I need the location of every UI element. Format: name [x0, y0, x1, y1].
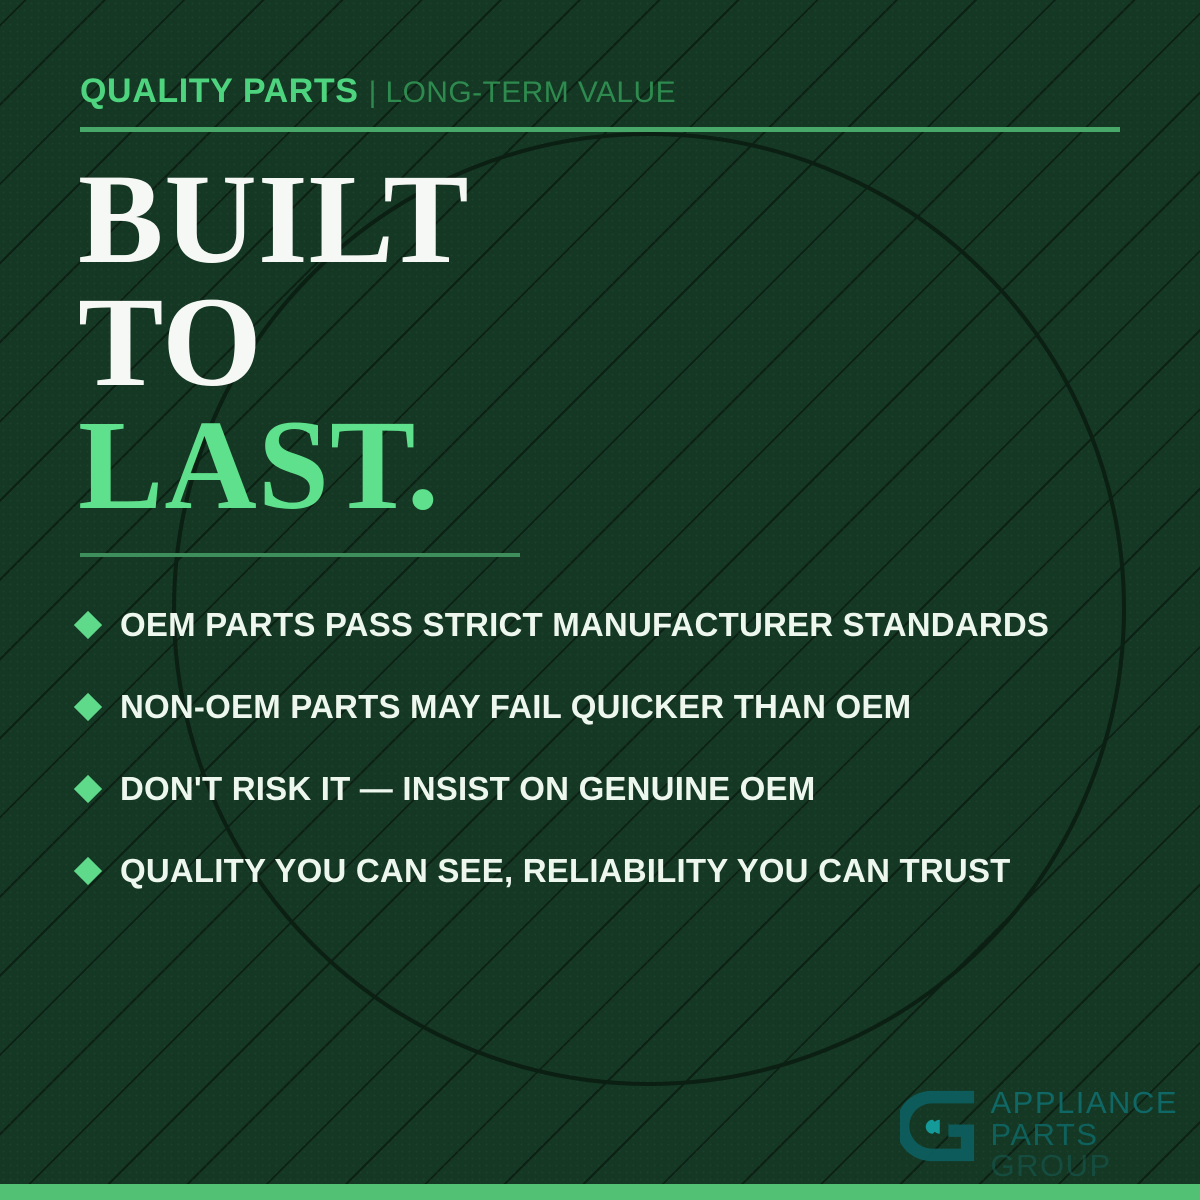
brand-line-2: PARTS: [990, 1119, 1178, 1151]
eyebrow: QUALITY PARTS| LONG-TERM VALUE: [80, 72, 676, 111]
list-item: QUALITY YOU CAN SEE, RELIABILITY YOU CAN…: [78, 830, 1168, 912]
poster-content: QUALITY PARTS| LONG-TERM VALUE BUILT TO …: [0, 0, 1200, 1200]
promo-poster: QUALITY PARTS| LONG-TERM VALUE BUILT TO …: [0, 0, 1200, 1200]
benefits-list: OEM PARTS PASS STRICT MANUFACTURER STAND…: [78, 584, 1168, 912]
header-divider-rule: [80, 127, 1120, 132]
headline-divider-rule: [80, 553, 520, 557]
headline-line-3: LAST.: [78, 404, 470, 527]
eyebrow-main-label: QUALITY PARTS: [80, 72, 359, 110]
brand-wordmark: APPLIANCE PARTS GROUP: [990, 1087, 1178, 1182]
bottom-accent-bar: [0, 1184, 1200, 1200]
list-item: DON'T RISK IT — INSIST ON GENUINE OEM: [78, 748, 1168, 830]
headline-line-2: TO: [78, 281, 470, 404]
list-item-label: OEM PARTS PASS STRICT MANUFACTURER STAND…: [120, 606, 1049, 644]
brand-logo: APPLIANCE PARTS GROUP: [900, 1087, 1178, 1182]
headline-line-1: BUILT: [78, 158, 470, 281]
diamond-bullet-icon: [74, 611, 102, 639]
eyebrow-sub-label: | LONG-TERM VALUE: [369, 76, 676, 109]
brand-line-3: GROUP: [990, 1150, 1178, 1182]
diamond-bullet-icon: [74, 857, 102, 885]
diamond-bullet-icon: [74, 775, 102, 803]
diamond-bullet-icon: [74, 693, 102, 721]
list-item: NON-OEM PARTS MAY FAIL QUICKER THAN OEM: [78, 666, 1168, 748]
list-item: OEM PARTS PASS STRICT MANUFACTURER STAND…: [78, 584, 1168, 666]
brand-line-1: APPLIANCE: [990, 1087, 1178, 1119]
g-monogram-icon: [900, 1087, 978, 1165]
list-item-label: NON-OEM PARTS MAY FAIL QUICKER THAN OEM: [120, 688, 911, 726]
list-item-label: QUALITY YOU CAN SEE, RELIABILITY YOU CAN…: [120, 852, 1011, 890]
list-item-label: DON'T RISK IT — INSIST ON GENUINE OEM: [120, 770, 815, 808]
page-title: BUILT TO LAST.: [78, 158, 470, 527]
